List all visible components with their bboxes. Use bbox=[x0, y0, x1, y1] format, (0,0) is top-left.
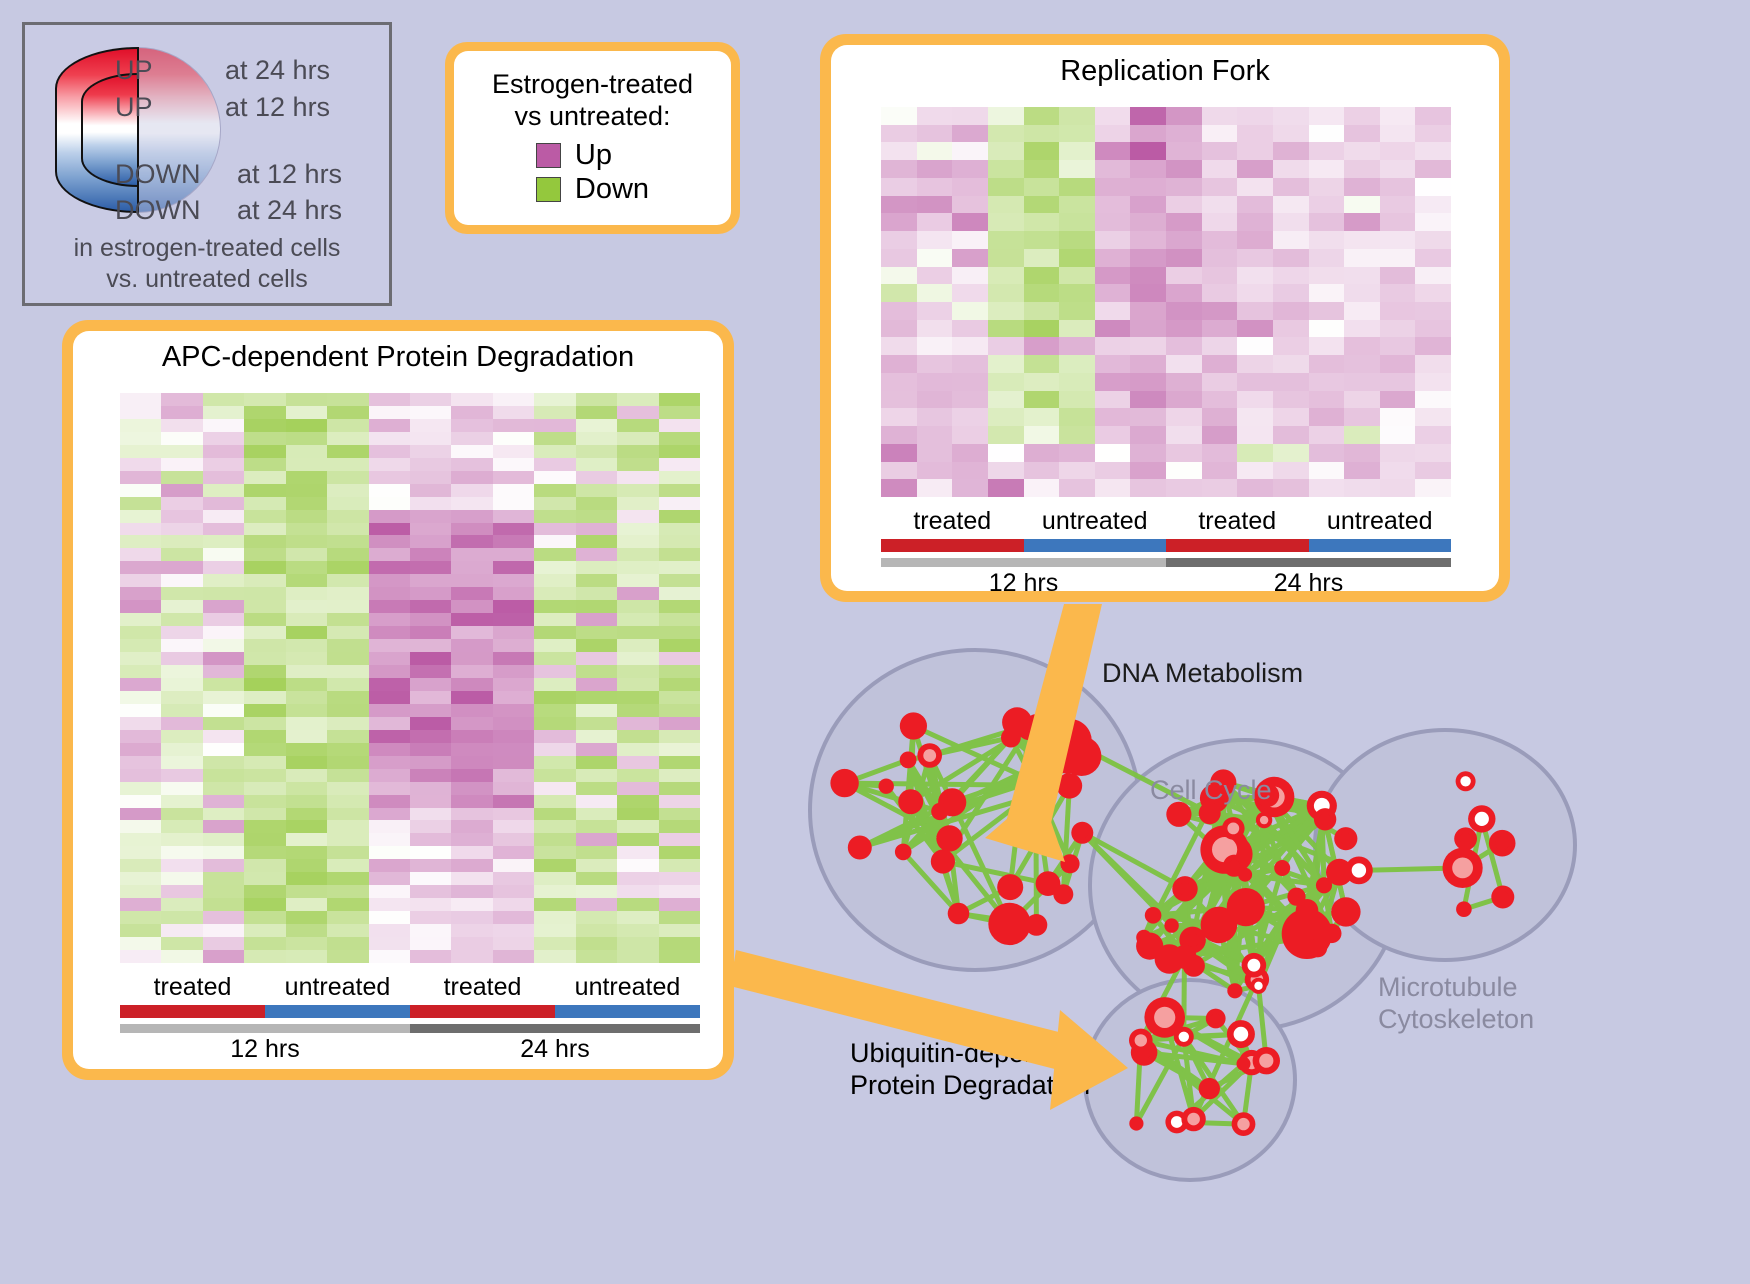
heatmap-cell bbox=[369, 406, 410, 419]
heatmap-cell bbox=[659, 691, 700, 704]
network-node[interactable] bbox=[1334, 827, 1357, 850]
network-node[interactable] bbox=[1129, 1116, 1143, 1130]
heatmap-cell bbox=[327, 937, 368, 950]
heatmap-cell bbox=[120, 535, 161, 548]
heatmap-cell bbox=[451, 406, 492, 419]
node-outer bbox=[988, 903, 1030, 945]
heatmap-cell bbox=[203, 924, 244, 937]
network-node[interactable] bbox=[830, 769, 858, 797]
heatmap-cell bbox=[881, 337, 917, 355]
network-node[interactable] bbox=[1489, 830, 1516, 857]
network-node[interactable] bbox=[988, 903, 1030, 945]
heatmap-cell bbox=[534, 885, 575, 898]
heatmap-cell bbox=[120, 950, 161, 963]
heatmap-cell bbox=[1130, 444, 1166, 462]
heatmap-cell bbox=[617, 730, 658, 743]
heatmap-cell bbox=[244, 691, 285, 704]
heatmap-cell bbox=[1202, 196, 1238, 214]
heatmap-cell bbox=[1024, 231, 1060, 249]
heatmap-cell bbox=[1273, 178, 1309, 196]
heatmap-cell bbox=[1095, 284, 1131, 302]
heatmap-cell bbox=[244, 574, 285, 587]
node-outer bbox=[1331, 897, 1360, 926]
updown-title-line1: Estrogen-treated bbox=[492, 69, 693, 100]
network-node[interactable] bbox=[1223, 855, 1245, 877]
heatmap-cell bbox=[120, 820, 161, 833]
panel-replication-fork-inner: Replication Fork treateduntreatedtreated… bbox=[831, 45, 1499, 591]
node-inner bbox=[1186, 933, 1200, 947]
heatmap-cell bbox=[451, 510, 492, 523]
node-outer bbox=[830, 769, 858, 797]
network-node[interactable] bbox=[848, 836, 872, 860]
heatmap-cell bbox=[1130, 125, 1166, 143]
heatmap-cell bbox=[988, 267, 1024, 285]
network-node[interactable] bbox=[917, 743, 942, 768]
heatmap-cell bbox=[161, 808, 202, 821]
heatmap-cell bbox=[244, 717, 285, 730]
heatmap-cell bbox=[1415, 267, 1451, 285]
heatmap-cell bbox=[1309, 479, 1345, 497]
network-node[interactable] bbox=[1181, 1107, 1205, 1131]
heatmap-cell bbox=[327, 898, 368, 911]
node-outer bbox=[1145, 907, 1162, 924]
heatmap-cell bbox=[327, 523, 368, 536]
heatmap-cell bbox=[1344, 249, 1380, 267]
network-node[interactable] bbox=[1036, 871, 1061, 896]
network-node[interactable] bbox=[1454, 827, 1477, 850]
heatmap-cell bbox=[451, 561, 492, 574]
heatmap-cell bbox=[120, 432, 161, 445]
heatmap-cell bbox=[410, 406, 451, 419]
network-node[interactable] bbox=[1129, 1029, 1153, 1053]
heatmap-cell bbox=[369, 548, 410, 561]
heatmap-cell bbox=[576, 445, 617, 458]
node-inner bbox=[1319, 814, 1331, 826]
heatmap-cell bbox=[369, 717, 410, 730]
network-node[interactable] bbox=[1199, 1078, 1220, 1099]
heatmap-cell bbox=[1202, 479, 1238, 497]
network-node[interactable] bbox=[1172, 876, 1197, 901]
node-inner bbox=[1248, 959, 1261, 972]
heatmap-cell bbox=[451, 859, 492, 872]
heatmap-cell bbox=[120, 587, 161, 600]
heatmap-cell bbox=[576, 756, 617, 769]
network-node[interactable] bbox=[1456, 901, 1472, 917]
network-node[interactable] bbox=[1274, 860, 1290, 876]
heatmap-cell bbox=[881, 142, 917, 160]
heatmap-cell bbox=[617, 717, 658, 730]
network-node[interactable] bbox=[1060, 854, 1079, 873]
network-node[interactable] bbox=[1232, 1112, 1256, 1136]
network-node[interactable] bbox=[1237, 1057, 1251, 1071]
heatmap-cell bbox=[576, 471, 617, 484]
heatmap-cell bbox=[1059, 320, 1095, 338]
heatmap-cell bbox=[534, 808, 575, 821]
heatmap-cell bbox=[1273, 249, 1309, 267]
panel-apc-degradation: APC-dependent Protein Degradation treate… bbox=[62, 320, 734, 1080]
network-node[interactable] bbox=[1002, 707, 1032, 737]
cluster-label-dna-metabolism: DNA Metabolism bbox=[1102, 658, 1303, 690]
heatmap-cell bbox=[244, 911, 285, 924]
heatmap-cell bbox=[203, 587, 244, 600]
heatmap-cell bbox=[1273, 355, 1309, 373]
network-node[interactable] bbox=[1331, 897, 1360, 926]
heatmap-cell bbox=[1273, 267, 1309, 285]
network-node[interactable] bbox=[898, 789, 923, 814]
heatmap-cell bbox=[881, 196, 917, 214]
network-node[interactable] bbox=[1345, 857, 1373, 885]
network-node[interactable] bbox=[1308, 938, 1327, 957]
heatmap-cell bbox=[1380, 178, 1416, 196]
network-node[interactable] bbox=[936, 825, 962, 851]
heatmap-cell bbox=[1024, 213, 1060, 231]
heatmap-cell bbox=[1130, 196, 1166, 214]
heatmap-cell bbox=[534, 458, 575, 471]
heatmap-cell bbox=[161, 458, 202, 471]
heatmap-cell bbox=[451, 587, 492, 600]
heatmap-cell bbox=[286, 924, 327, 937]
heatmap-cell bbox=[1024, 426, 1060, 444]
heatmap-cell bbox=[120, 484, 161, 497]
network-node[interactable] bbox=[1206, 1009, 1226, 1029]
heatmap-cell bbox=[1237, 408, 1273, 426]
heatmap-cell bbox=[1415, 284, 1451, 302]
heatmap-cell bbox=[534, 613, 575, 626]
heatmap-cell bbox=[493, 458, 534, 471]
heatmap-cell bbox=[161, 665, 202, 678]
heatmap-cell bbox=[286, 613, 327, 626]
heatmap-cell bbox=[203, 484, 244, 497]
heatmap-cell bbox=[659, 717, 700, 730]
heatmap-cell bbox=[534, 691, 575, 704]
heatmap-cell bbox=[988, 408, 1024, 426]
heatmap-cell bbox=[576, 484, 617, 497]
heatmap-cell bbox=[369, 820, 410, 833]
heatmap-cell bbox=[327, 561, 368, 574]
heatmap-cell bbox=[451, 600, 492, 613]
heatmap-cell bbox=[1273, 391, 1309, 409]
heatmap-cell bbox=[161, 782, 202, 795]
heatmap-cell bbox=[244, 795, 285, 808]
heatmap-cell bbox=[120, 782, 161, 795]
heatmap-cell bbox=[120, 911, 161, 924]
heatmap-cell bbox=[120, 924, 161, 937]
heatmap-cell bbox=[617, 859, 658, 872]
heatmap-cell bbox=[1024, 284, 1060, 302]
heatmap-cell bbox=[1202, 302, 1238, 320]
heatmap-cell bbox=[1130, 249, 1166, 267]
heatmap-cell bbox=[244, 885, 285, 898]
axis-time-label: 24 hrs bbox=[1166, 569, 1451, 591]
heatmap-cell bbox=[534, 561, 575, 574]
heatmap-cell bbox=[1273, 107, 1309, 125]
heatmap-cell bbox=[369, 859, 410, 872]
heatmap-cell bbox=[617, 561, 658, 574]
heatmap-cell bbox=[120, 730, 161, 743]
network-node[interactable] bbox=[1250, 978, 1266, 994]
updown-legend-rows: Up Down bbox=[536, 138, 649, 207]
heatmap-cell bbox=[161, 911, 202, 924]
network-node[interactable] bbox=[1443, 848, 1483, 888]
heatmap-cell bbox=[1202, 320, 1238, 338]
heatmap-cell bbox=[203, 600, 244, 613]
heatmap-cell bbox=[369, 808, 410, 821]
network-node[interactable] bbox=[1287, 888, 1305, 906]
network-node[interactable] bbox=[1314, 808, 1336, 830]
heatmap-cell bbox=[617, 665, 658, 678]
heatmap-cell bbox=[369, 898, 410, 911]
network-node[interactable] bbox=[948, 903, 970, 925]
heatmap-cell bbox=[410, 924, 451, 937]
network-node[interactable] bbox=[900, 752, 917, 769]
heatmap-cell bbox=[1059, 267, 1095, 285]
heatmap-cell bbox=[1130, 213, 1166, 231]
heatmap-cell bbox=[327, 548, 368, 561]
heatmap-cell bbox=[369, 743, 410, 756]
heatmap-cell bbox=[1166, 337, 1202, 355]
heatmap-cell bbox=[451, 743, 492, 756]
network-node[interactable] bbox=[879, 779, 894, 794]
heatmap-cell bbox=[203, 691, 244, 704]
axis-time-bar-apc bbox=[120, 1024, 700, 1033]
heatmap-cell bbox=[1166, 320, 1202, 338]
heatmap-cell bbox=[1380, 337, 1416, 355]
network-node[interactable] bbox=[1253, 1047, 1280, 1074]
heatmap-cell bbox=[534, 820, 575, 833]
heatmap-cell bbox=[917, 213, 953, 231]
heatmap-cell bbox=[410, 484, 451, 497]
heatmap-cell bbox=[244, 639, 285, 652]
heatmap-cell bbox=[617, 600, 658, 613]
heatmap-cell bbox=[120, 795, 161, 808]
heatmap-cell bbox=[881, 320, 917, 338]
network-node[interactable] bbox=[1026, 914, 1048, 936]
heatmap-cell bbox=[952, 125, 988, 143]
heatmap-cell bbox=[1309, 196, 1345, 214]
heatmap-cell bbox=[120, 846, 161, 859]
heatmap-cell bbox=[1059, 302, 1095, 320]
heatmap-cell bbox=[120, 561, 161, 574]
heatmap-cell bbox=[1202, 462, 1238, 480]
heatmap-cell bbox=[1166, 373, 1202, 391]
node-inner bbox=[1259, 1054, 1273, 1068]
updown-legend-inner: Estrogen-treated vs untreated: Up Down bbox=[454, 51, 731, 225]
heatmap-cell bbox=[244, 833, 285, 846]
heatmap-cell bbox=[1095, 231, 1131, 249]
network-node[interactable] bbox=[900, 712, 927, 739]
network-node[interactable] bbox=[1468, 805, 1495, 832]
heatmap-cell bbox=[1380, 284, 1416, 302]
heatmap-cell bbox=[327, 743, 368, 756]
heatmap-cell bbox=[1415, 231, 1451, 249]
heatmap-cell bbox=[286, 704, 327, 717]
heatmap-cell bbox=[988, 320, 1024, 338]
network-svg bbox=[790, 600, 1750, 1279]
heatmap-cell bbox=[327, 717, 368, 730]
heatmap-cell bbox=[659, 924, 700, 937]
heatmap-cell bbox=[1344, 142, 1380, 160]
heatmap-cell bbox=[952, 444, 988, 462]
heatmap-cell bbox=[617, 613, 658, 626]
heatmap-cell bbox=[451, 769, 492, 782]
heatmap-cell bbox=[451, 898, 492, 911]
heatmap-cell bbox=[161, 613, 202, 626]
heatmap-cell bbox=[952, 142, 988, 160]
heatmap-cell bbox=[286, 406, 327, 419]
network-node[interactable] bbox=[931, 803, 948, 820]
heatmap-cell bbox=[1024, 320, 1060, 338]
node-inner bbox=[1179, 1032, 1189, 1042]
network-node[interactable] bbox=[1155, 944, 1185, 974]
heatmap-cell bbox=[493, 691, 534, 704]
heatmap-cell bbox=[244, 497, 285, 510]
heatmap-cell bbox=[244, 924, 285, 937]
heatmap-cell bbox=[369, 911, 410, 924]
network-node[interactable] bbox=[1145, 907, 1162, 924]
heatmap-cell bbox=[659, 898, 700, 911]
axis-group-bar-segment bbox=[265, 1005, 410, 1018]
legend-sub-up-24: at 24 hrs bbox=[225, 55, 330, 86]
heatmap-cell bbox=[1273, 125, 1309, 143]
heatmap-cell bbox=[451, 833, 492, 846]
heatmap-cell bbox=[327, 704, 368, 717]
network-node[interactable] bbox=[1025, 773, 1042, 790]
network-node[interactable] bbox=[1164, 918, 1178, 932]
heatmap-cell bbox=[988, 125, 1024, 143]
heatmap-cell bbox=[1344, 426, 1380, 444]
heatmap-cell bbox=[1344, 373, 1380, 391]
node-inner bbox=[1178, 882, 1191, 895]
heatmap-cell bbox=[120, 445, 161, 458]
node-outer bbox=[1164, 918, 1178, 932]
heatmap-cell bbox=[286, 678, 327, 691]
heatmap-cell bbox=[1309, 178, 1345, 196]
heatmap-cell bbox=[493, 950, 534, 963]
network-node[interactable] bbox=[895, 844, 912, 861]
heatmap-cell bbox=[659, 859, 700, 872]
heatmap-cell bbox=[161, 898, 202, 911]
heatmap-cell bbox=[1202, 267, 1238, 285]
axis-group-label: treated bbox=[1166, 507, 1309, 536]
updown-title-line2: vs untreated: bbox=[492, 101, 693, 132]
heatmap-cell bbox=[1024, 249, 1060, 267]
heatmap-cell bbox=[1024, 444, 1060, 462]
heatmap-cell bbox=[617, 950, 658, 963]
heatmap-cell bbox=[120, 678, 161, 691]
network-node[interactable] bbox=[997, 874, 1023, 900]
heatmap-cell bbox=[1202, 249, 1238, 267]
heatmap-cell bbox=[1237, 267, 1273, 285]
heatmap-cell bbox=[1415, 391, 1451, 409]
heatmap-cell bbox=[617, 937, 658, 950]
heatmap-cell bbox=[1309, 337, 1345, 355]
heatmap-cell bbox=[659, 458, 700, 471]
network-node[interactable] bbox=[1242, 953, 1267, 978]
heatmap-cell bbox=[451, 574, 492, 587]
heatmap-cell bbox=[576, 743, 617, 756]
axis-group-bar-segment bbox=[410, 1005, 555, 1018]
heatmap-cell bbox=[1415, 196, 1451, 214]
heatmap-cell bbox=[1024, 337, 1060, 355]
network-node[interactable] bbox=[1201, 907, 1238, 944]
network-node[interactable] bbox=[1057, 773, 1083, 799]
heatmap-cell bbox=[451, 795, 492, 808]
heatmap-cell bbox=[576, 561, 617, 574]
heatmap-cell bbox=[1273, 408, 1309, 426]
heatmap-cell bbox=[534, 471, 575, 484]
heatmap-cell bbox=[203, 782, 244, 795]
heatmap-cell bbox=[1380, 125, 1416, 143]
heatmap-cell bbox=[881, 178, 917, 196]
network-node[interactable] bbox=[1491, 886, 1514, 909]
heatmap-cell bbox=[1059, 231, 1095, 249]
heatmap-cell bbox=[286, 937, 327, 950]
heatmap-cell bbox=[1130, 160, 1166, 178]
network-node[interactable] bbox=[1256, 812, 1272, 828]
heatmap-cell bbox=[410, 548, 451, 561]
network-node[interactable] bbox=[1174, 1027, 1194, 1047]
heatmap-cell bbox=[1344, 391, 1380, 409]
heatmap-cell bbox=[327, 587, 368, 600]
heatmap-cell bbox=[244, 782, 285, 795]
node-outer bbox=[895, 844, 912, 861]
heatmap-cell bbox=[881, 373, 917, 391]
heatmap-cell bbox=[1237, 479, 1273, 497]
heatmap-cell bbox=[1309, 462, 1345, 480]
network-node[interactable] bbox=[1222, 817, 1245, 840]
network-node[interactable] bbox=[1227, 983, 1242, 998]
network-node[interactable] bbox=[1227, 1020, 1255, 1048]
heatmap-cell bbox=[369, 432, 410, 445]
network-node[interactable] bbox=[931, 849, 955, 873]
heatmap-cell bbox=[617, 678, 658, 691]
heatmap-cell bbox=[410, 587, 451, 600]
heatmap-cell bbox=[576, 497, 617, 510]
heatmap-cell bbox=[410, 678, 451, 691]
network-node[interactable] bbox=[1045, 730, 1089, 774]
heatmap-cell bbox=[451, 885, 492, 898]
heatmap-cell bbox=[1166, 213, 1202, 231]
panel-replication-fork: Replication Fork treateduntreatedtreated… bbox=[820, 34, 1510, 602]
heatmap-cell bbox=[203, 885, 244, 898]
network-node[interactable] bbox=[1071, 822, 1093, 844]
legend-label-up-24: UP bbox=[115, 55, 153, 86]
heatmap-cell bbox=[410, 574, 451, 587]
heatmap-cell bbox=[534, 846, 575, 859]
heatmap-cell bbox=[369, 924, 410, 937]
network-node[interactable] bbox=[1316, 877, 1332, 893]
heatmap-cell bbox=[203, 432, 244, 445]
heatmap-cell bbox=[1415, 444, 1451, 462]
heatmap-cell bbox=[881, 355, 917, 373]
heatmap-cell bbox=[451, 432, 492, 445]
heatmap-cell bbox=[493, 419, 534, 432]
heatmap-cell bbox=[881, 479, 917, 497]
heatmap-cell bbox=[369, 885, 410, 898]
heatmap-cell bbox=[1380, 408, 1416, 426]
heatmap-cell bbox=[881, 107, 917, 125]
heatmap-cell bbox=[1273, 479, 1309, 497]
heatmap-cell bbox=[1344, 337, 1380, 355]
network-node[interactable] bbox=[1456, 771, 1476, 791]
heatmap-cell bbox=[1202, 160, 1238, 178]
heatmap-cell bbox=[286, 652, 327, 665]
heatmap-cell bbox=[244, 756, 285, 769]
heatmap-cell bbox=[410, 523, 451, 536]
heatmap-cell bbox=[1166, 178, 1202, 196]
heatmap-cell bbox=[369, 535, 410, 548]
heatmap-cell bbox=[534, 393, 575, 406]
